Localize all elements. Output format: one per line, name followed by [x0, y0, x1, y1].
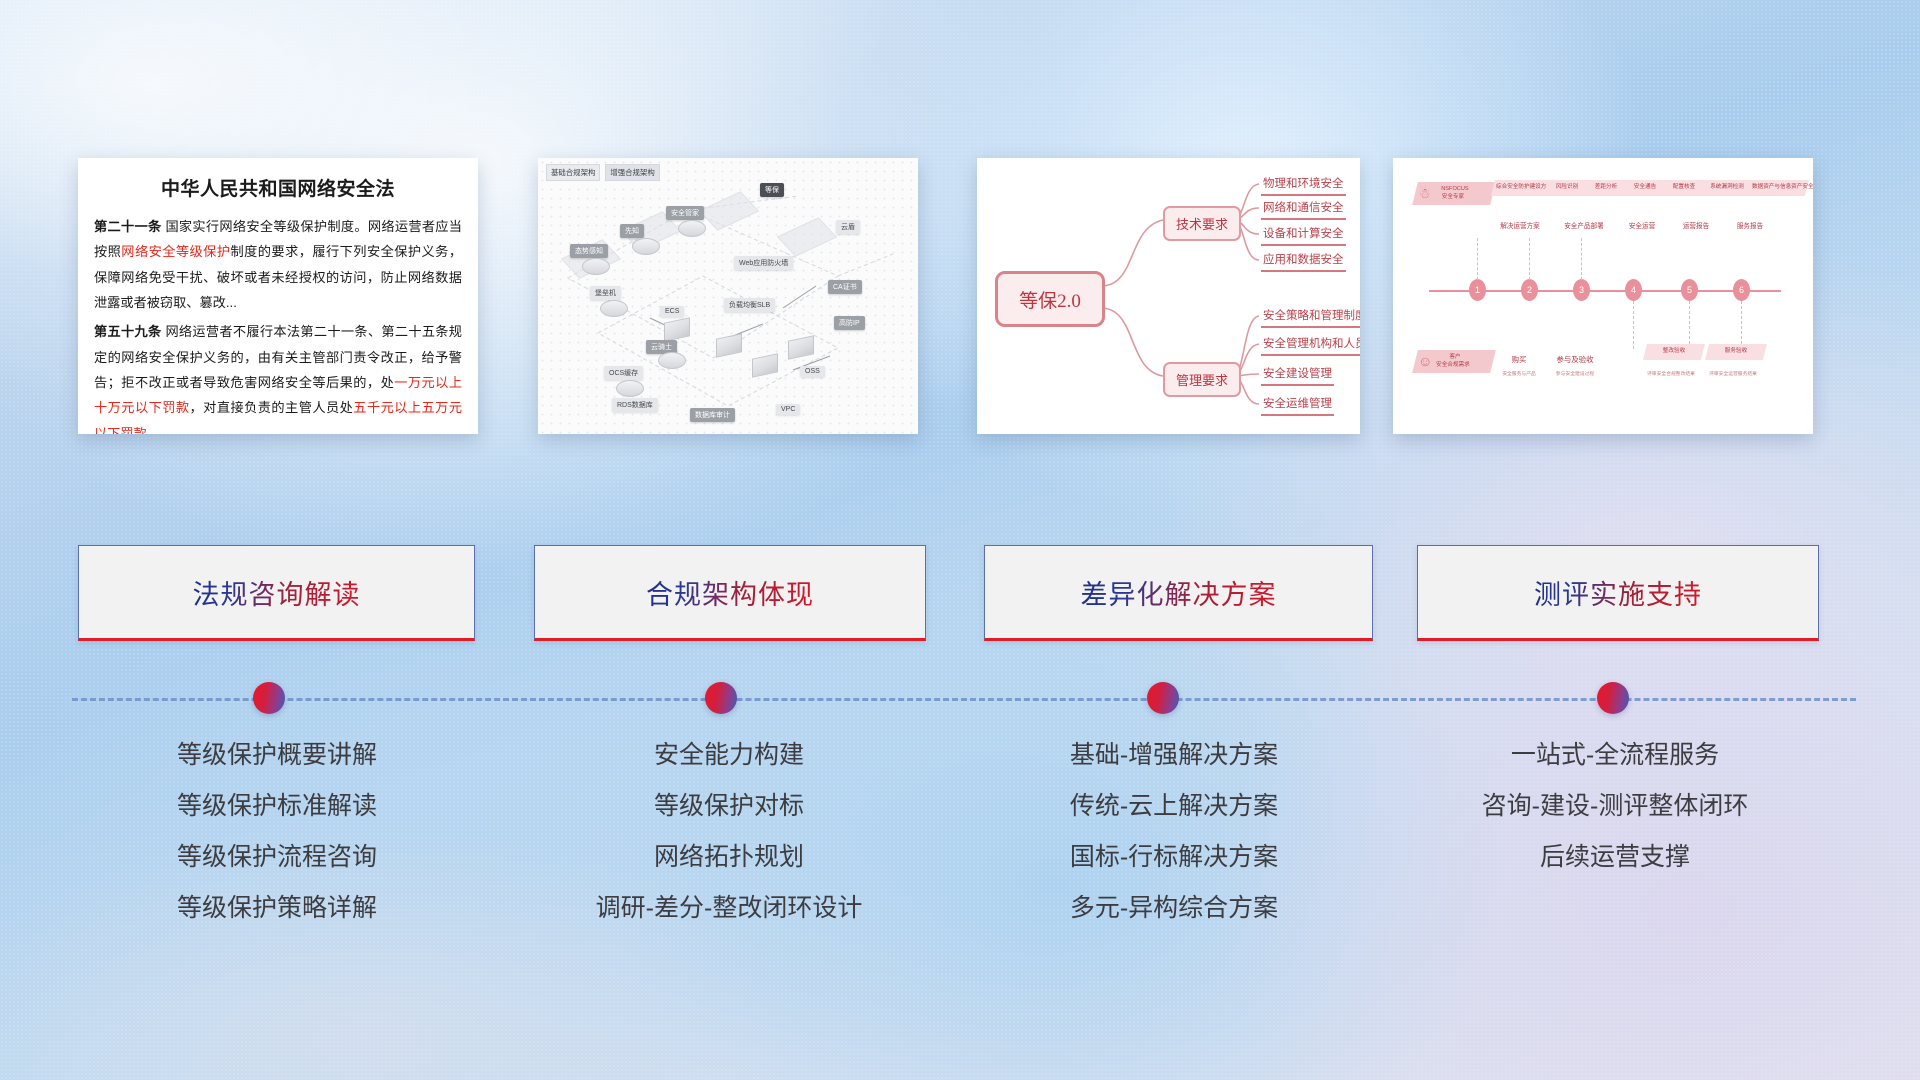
law-body: 第二十一条 国家实行网络安全等级保护制度。网络运营者应当按照网络安全等级保护制度… [78, 214, 478, 434]
pillar-label-2: 差异化解决方案 [1081, 573, 1277, 612]
timeline-dashed-line [72, 698, 1856, 701]
architecture-node-situational-awareness: 态势感知 [570, 244, 608, 258]
roadmap-top-chip-5: 系统漏洞检测 [1700, 180, 1754, 196]
list-item: 等级保护标准解读 [78, 781, 476, 832]
roadmap-bottom-label-1: 参与及验收 [1549, 354, 1601, 365]
roadmap-step-3: 3 [1573, 279, 1590, 301]
architecture-tab-group: 基础合规架构 增强合规架构 [546, 164, 660, 181]
architecture-puck-4 [600, 300, 628, 317]
roadmap-step-4: 4 [1625, 279, 1642, 301]
timeline-dot-3[interactable] [1147, 682, 1179, 714]
roadmap-step-5: 5 [1681, 279, 1698, 301]
list-item: 基础-增强解决方案 [975, 730, 1373, 781]
roadmap-service-label-3: 运营报告 [1675, 220, 1717, 230]
architecture-node-anti-ddos-ip: 高防IP [834, 316, 865, 330]
card-dengbao-mindmap[interactable]: 等保2.0 技术要求 管理要求 物理和环境安全 网络和通信安全 设备和计算安全 … [977, 158, 1360, 434]
roadmap-top-chip-2-label: 差距分析 [1588, 184, 1624, 192]
timeline-dot-4[interactable] [1597, 682, 1629, 714]
architecture-puck-3 [582, 258, 610, 275]
list-item: 调研-差分-整改闭环设计 [530, 883, 928, 934]
roadmap-step-6: 6 [1733, 279, 1750, 301]
mindmap-leaf-tech-0: 物理和环境安全 [1261, 175, 1346, 196]
architecture-puck-1 [678, 220, 706, 237]
roadmap-customer-sub: 安全合规需求 [1417, 362, 1489, 370]
detail-list-3: 一站式-全流程服务 咨询-建设-测评整体闭环 后续运营支撑 [1410, 730, 1820, 883]
card-nsfocus-roadmap[interactable]: ☃ NSFOCUS 安全专家 综合安全防护建设方案 风险识别 差距分析 安全通告… [1393, 158, 1813, 434]
list-item: 等级保护对标 [530, 781, 928, 832]
architecture-node-ocs-cache: OCS缓存 [604, 366, 643, 380]
architecture-node-ca-cert: CA证书 [828, 280, 862, 294]
pillar-row: 法规咨询解读 合规架构体现 差异化解决方案 测评实施支持 [0, 545, 1920, 645]
roadmap-bottom-sub-3: 评审安全运营服务结果 [1697, 370, 1769, 377]
architecture-node-slb: 负载均衡SLB [724, 298, 775, 312]
card-cybersecurity-law[interactable]: 中华人民共和国网络安全法 第二十一条 国家实行网络安全等级保护制度。网络运营者应… [78, 158, 478, 434]
law-run-1-2: ，对直接负责的主管人员处 [190, 400, 354, 415]
law-article-number-59: 第五十九条 [94, 324, 161, 339]
roadmap-expert-sub: 安全专家 [1417, 194, 1489, 202]
architecture-node-waf: Web应用防火墙 [734, 256, 793, 270]
architecture-node-rds: RDS数据库 [612, 398, 658, 412]
architecture-tab-enhanced[interactable]: 增强合规架构 [605, 164, 659, 181]
roadmap-service-label-0: 解决运营方案 [1493, 220, 1547, 230]
pillar-differentiated-solutions[interactable]: 差异化解决方案 [984, 545, 1373, 641]
detail-list-1: 安全能力构建 等级保护对标 网络拓扑规划 调研-差分-整改闭环设计 [530, 730, 928, 934]
list-item: 多元-异构综合方案 [975, 883, 1373, 934]
roadmap-tick-1 [1477, 238, 1479, 280]
pillar-label-3: 测评实施支持 [1534, 573, 1702, 612]
roadmap-diagram: ☃ NSFOCUS 安全专家 综合安全防护建设方案 风险识别 差距分析 安全通告… [1393, 158, 1813, 434]
list-item: 等级保护策略详解 [78, 883, 476, 934]
list-item: 咨询-建设-测评整体闭环 [1410, 781, 1820, 832]
mindmap-leaf-mgmt-1: 安全管理机构和人员 [1261, 335, 1360, 356]
mindmap-leaf-mgmt-2: 安全建设管理 [1261, 365, 1334, 386]
architecture-node-vpc: VPC [776, 404, 800, 415]
roadmap-service-label-1: 安全产品部署 [1555, 220, 1613, 230]
roadmap-customer-title: 客户 [1419, 354, 1491, 362]
mindmap: 等保2.0 技术要求 管理要求 物理和环境安全 网络和通信安全 设备和计算安全 … [977, 158, 1360, 434]
architecture-node-oss: OSS [800, 366, 825, 377]
list-item: 国标-行标解决方案 [975, 832, 1373, 883]
roadmap-bottom-chip-3-label: 服务验收 [1710, 348, 1762, 356]
roadmap-tick-5 [1689, 301, 1691, 349]
roadmap-bottom-chip-3: 服务验收 [1705, 344, 1767, 360]
roadmap-top-chip-0-label: 综合安全防护建设方案 [1496, 184, 1546, 192]
roadmap-top-chip-1-label: 风险识别 [1549, 184, 1585, 192]
architecture-diagram: 基础合规架构 增强合规架构 [538, 158, 918, 434]
list-item: 网络拓扑规划 [530, 832, 928, 883]
roadmap-top-chip-3-label: 安全通告 [1627, 184, 1663, 192]
roadmap-bottom-sub-0: 安全服务与产品 [1493, 370, 1545, 377]
law-title: 中华人民共和国网络安全法 [78, 174, 478, 201]
timeline-dot-2[interactable] [705, 682, 737, 714]
roadmap-bottom-sub-1: 参与安全建设过程 [1545, 370, 1605, 377]
pillar-label-1: 合规架构体现 [646, 573, 814, 612]
roadmap-step-2: 2 [1521, 279, 1538, 301]
timeline [0, 650, 1920, 730]
list-item: 等级保护流程咨询 [78, 832, 476, 883]
roadmap-service-label-2: 安全运营 [1621, 220, 1663, 230]
list-item: 后续运营支撑 [1410, 832, 1820, 883]
mindmap-root-node: 等保2.0 [995, 271, 1105, 327]
architecture-node-db-audit: 数据库审计 [690, 408, 735, 422]
roadmap-top-chip-6: 数据资产与信息资产安全运营 [1747, 180, 1809, 196]
architecture-node-cloud-shield: 云盾 [836, 220, 860, 234]
mindmap-leaf-mgmt-0: 安全策略和管理制度 [1261, 307, 1360, 328]
list-item: 等级保护概要讲解 [78, 730, 476, 781]
pillar-label-0: 法规咨询解读 [193, 573, 361, 612]
mindmap-branch-management: 管理要求 [1163, 362, 1241, 397]
law-article-number-21: 第二十一条 [94, 219, 161, 234]
detail-list-2: 基础-增强解决方案 传统-云上解决方案 国标-行标解决方案 多元-异构综合方案 [975, 730, 1373, 934]
architecture-tab-basic[interactable]: 基础合规架构 [546, 164, 600, 181]
roadmap-top-chip-6-label: 数据资产与信息资产安全运营 [1752, 184, 1804, 192]
mindmap-leaf-tech-2: 设备和计算安全 [1261, 225, 1346, 246]
pillar-legal-consulting[interactable]: 法规咨询解读 [78, 545, 475, 641]
roadmap-top-chip-0: 综合安全防护建设方案 [1491, 180, 1551, 196]
law-run-0-1: 网络安全等级保护 [121, 244, 230, 259]
roadmap-top-chip-4-label: 配置核查 [1666, 184, 1702, 192]
mindmap-leaf-tech-3: 应用和数据安全 [1261, 251, 1346, 272]
roadmap-service-label-4: 服务报告 [1729, 220, 1771, 230]
list-item: 安全能力构建 [530, 730, 928, 781]
architecture-node-dengbao: 等保 [760, 183, 784, 197]
thumbnail-card-row: 中华人民共和国网络安全法 第二十一条 国家实行网络安全等级保护制度。网络运营者应… [0, 148, 1920, 448]
roadmap-step-1: 1 [1469, 279, 1486, 301]
mindmap-leaf-tech-1: 网络和通信安全 [1261, 199, 1346, 220]
mindmap-branch-technical: 技术要求 [1163, 206, 1241, 241]
roadmap-expert-title: NSFOCUS [1419, 186, 1491, 194]
architecture-node-ecs: ECS [660, 306, 684, 317]
card-compliance-architecture[interactable]: 基础合规架构 增强合规架构 [538, 158, 918, 434]
list-item: 一站式-全流程服务 [1410, 730, 1820, 781]
architecture-puck-5 [658, 352, 686, 369]
law-paragraph-59: 第五十九条 网络运营者不履行本法第二十一条、第二十五条规定的网络安全保护义务的，… [94, 319, 462, 434]
pillar-assessment-support[interactable]: 测评实施支持 [1417, 545, 1819, 641]
list-item: 传统-云上解决方案 [975, 781, 1373, 832]
pillar-compliance-architecture[interactable]: 合规架构体现 [534, 545, 926, 641]
timeline-dot-1[interactable] [253, 682, 285, 714]
roadmap-customer-chip: ☺ 客户 安全合规需求 [1412, 350, 1496, 373]
roadmap-bottom-chip-2: 整改验收 [1643, 344, 1705, 360]
law-paragraph-21: 第二十一条 国家实行网络安全等级保护制度。网络运营者应当按照网络安全等级保护制度… [94, 214, 462, 315]
roadmap-bottom-chip-2-label: 整改验收 [1648, 348, 1700, 356]
roadmap-expert-chip: ☃ NSFOCUS 安全专家 [1412, 182, 1496, 205]
mindmap-leaf-mgmt-3: 安全运维管理 [1261, 395, 1334, 416]
roadmap-tick-6 [1741, 301, 1743, 349]
architecture-puck-6 [616, 380, 644, 397]
roadmap-bottom-label-0: 购买 [1499, 354, 1539, 365]
roadmap-top-chip-5-label: 系统漏洞检测 [1705, 184, 1749, 192]
architecture-node-xianzhi: 先知 [620, 224, 644, 238]
roadmap-tick-3 [1581, 238, 1583, 280]
detail-list-row: 等级保护概要讲解 等级保护标准解读 等级保护流程咨询 等级保护策略详解 安全能力… [0, 730, 1920, 990]
architecture-node-bastion-host: 堡垒机 [590, 286, 621, 300]
roadmap-tick-4 [1633, 301, 1635, 349]
architecture-node-security-butler: 安全管家 [666, 206, 704, 220]
roadmap-tick-2 [1529, 238, 1531, 280]
detail-list-0: 等级保护概要讲解 等级保护标准解读 等级保护流程咨询 等级保护策略详解 [78, 730, 476, 934]
architecture-puck-2 [632, 238, 660, 255]
